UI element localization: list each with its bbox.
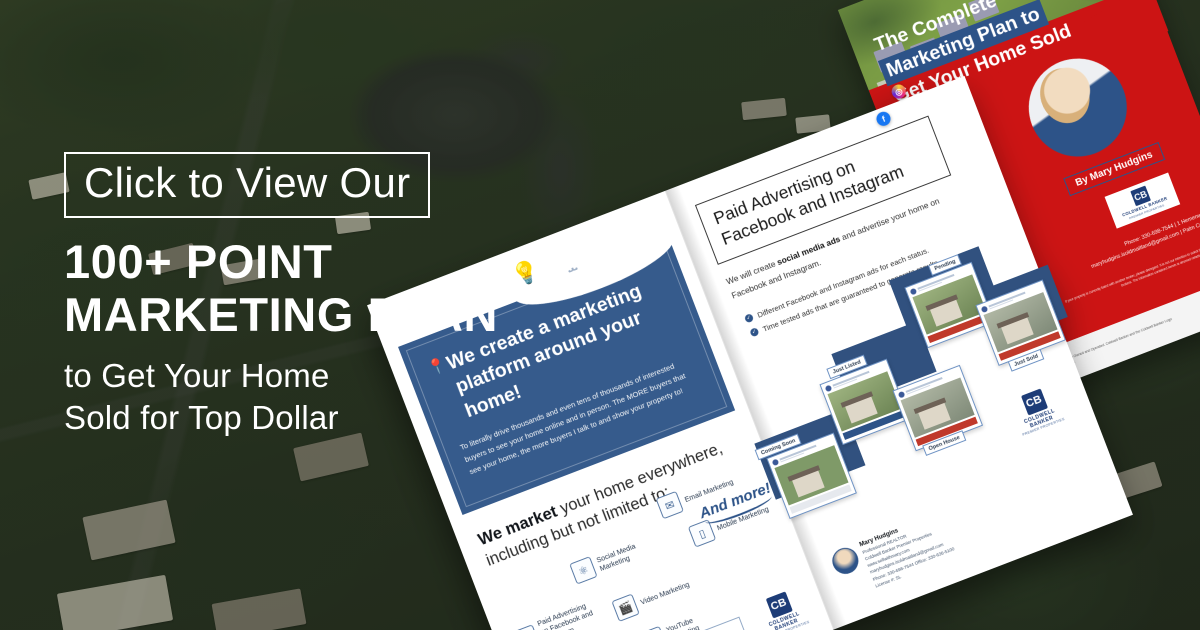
mobile-phone-icon: ▯ (688, 519, 716, 547)
agent-details: Mary Hudgins Professional REALTOR Coldwe… (858, 511, 958, 590)
rooftop (82, 500, 175, 561)
click-to-view-label: Click to View Our (84, 162, 410, 204)
play-button-icon: ▶ (639, 626, 667, 630)
post-avatar (772, 458, 780, 466)
subheadline-line-1: to Get Your Home (64, 355, 584, 397)
share-network-icon: ⚛ (569, 556, 597, 584)
post-avatar (981, 305, 989, 313)
subheadline-line-2: Sold for Top Dollar (64, 397, 584, 439)
rooftop (741, 98, 787, 121)
facebook-icon: f (874, 110, 892, 128)
channel-social-media: ⚛ Social Media Marketing (569, 534, 654, 584)
post-avatar (898, 391, 906, 399)
megaphone-icon: 📣 (512, 624, 540, 630)
agent-avatar (829, 544, 863, 578)
channel-paid-advertising: 📣 Paid Advertising on Facebook and Insta… (511, 600, 598, 630)
hero-copy: Click to View Our 100+ POINT MARKETING P… (64, 152, 584, 438)
click-to-view-badge[interactable]: Click to View Our (64, 152, 430, 218)
headline-line-2: MARKETING PLAN (64, 289, 584, 342)
check-circle-icon: ✓ (749, 327, 759, 337)
subheadline: to Get Your Home Sold for Top Dollar (64, 355, 584, 438)
hero-banner[interactable]: Click to View Our 100+ POINT MARKETING P… (0, 0, 1200, 630)
channel-label: Paid Advertising on Facebook and Instagr… (536, 600, 598, 630)
video-camera-icon: 🎬 (611, 594, 639, 622)
headline-line-1: 100+ POINT (64, 236, 584, 289)
channel-label: Social Media Marketing (595, 536, 654, 573)
check-circle-icon: ✓ (744, 313, 754, 323)
channel-video: 🎬 Video Marketing (611, 572, 696, 622)
post-avatar (825, 385, 833, 393)
channel-label: Video Marketing (639, 578, 695, 606)
post-avatar (910, 288, 918, 296)
right-page-coldwell-banker-logo: CB COLDWELL BANKER PREMIER PROPERTIES (1006, 383, 1069, 438)
rooftop (293, 433, 369, 482)
rooftop (212, 588, 307, 630)
rooftop (57, 575, 173, 630)
